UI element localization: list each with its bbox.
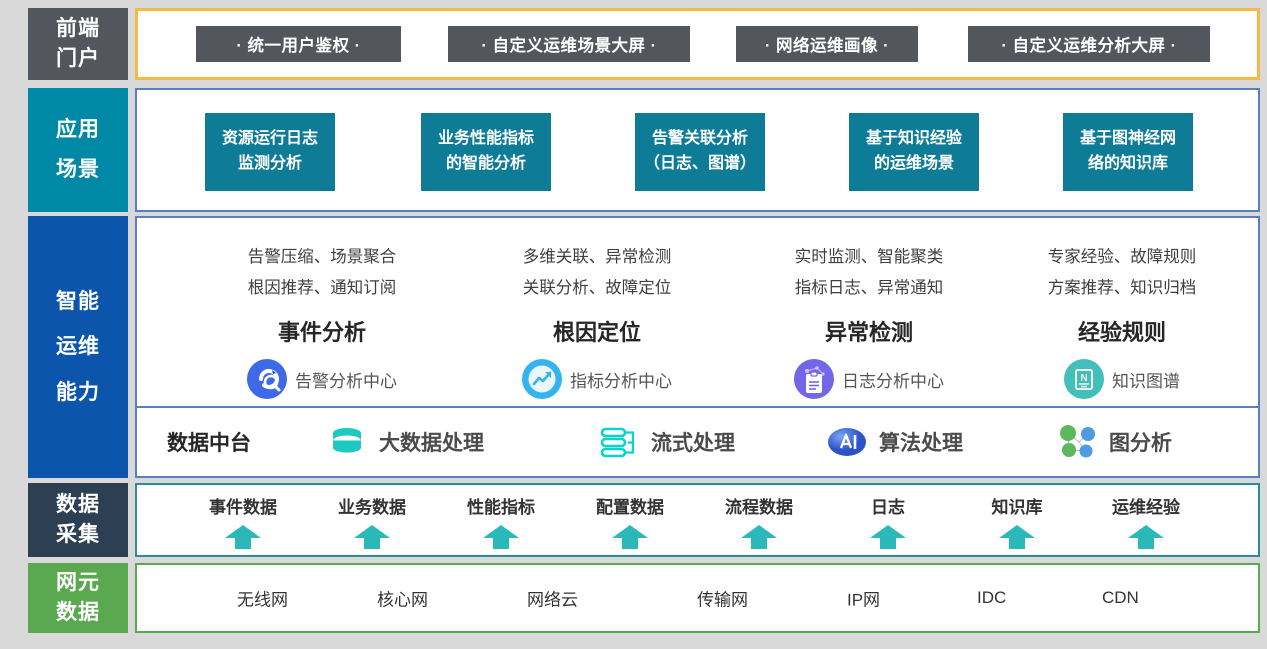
capability-tool[interactable]: 告警分析中心 [197,359,447,399]
row-label-line: 智能 [56,279,100,324]
network-element-item-1: 核心网 [377,586,428,611]
collection-item-label: 性能指标 [441,493,561,518]
up-arrow-icon [998,524,1036,550]
up-arrow-icon [1127,524,1165,550]
row-label-line: 应用 [56,110,100,150]
application-scenario-card-0[interactable]: 资源运行日志监测分析 [205,113,335,191]
capability-bullet: 根因推荐、通知订阅 [197,273,447,304]
row-label-line: 网元 [56,568,100,598]
capability-tool-label: 指标分析中心 [570,367,672,392]
data-collection-panel: 事件数据业务数据性能指标配置数据流程数据日志知识库运维经验 [135,483,1260,557]
frontend-portal-panel: · 统一用户鉴权 ·· 自定义运维场景大屏 ·· 网络运维画像 ·· 自定义运维… [135,8,1260,80]
data-platform-item-2[interactable]: 算法处理 [827,422,963,462]
collection-item-5: 日志 [828,493,948,550]
capability-title: 事件分析 [197,315,447,347]
row-label-aiops-capability: 智能 运维 能力 [28,216,128,478]
capability-tool[interactable]: 指标分析中心 [472,359,722,399]
capability-column-2: 实时监测、智能聚类指标日志、异常通知异常检测 日志分析中心 [744,242,994,399]
data-platform-item-label: 图分析 [1109,427,1172,457]
capability-tool[interactable]: N 知识图谱 [997,359,1247,399]
card-line: 的智能分析 [446,152,526,177]
data-platform-item-1[interactable]: 流式处理 [599,422,735,462]
up-arrow-icon [869,524,907,550]
capability-bullet: 多维关联、异常检测 [472,242,722,273]
log-analysis-icon [794,359,834,399]
network-element-data-panel: 无线网核心网网络云传输网IP网IDCCDN [135,563,1260,633]
row-label-line: 场景 [56,150,100,190]
capability-tool-label: 日志分析中心 [842,367,944,392]
row-label-line: 数据 [56,490,100,520]
network-element-item-6: CDN [1102,588,1139,608]
capability-bullets: 专家经验、故障规则方案推荐、知识归档 [997,242,1247,303]
row-label-line: 能力 [56,370,100,415]
row-frontend-portal: 前端 门户 · 统一用户鉴权 ·· 自定义运维场景大屏 ·· 网络运维画像 ··… [28,8,1260,80]
portal-chip-2[interactable]: · 网络运维画像 · [736,26,918,62]
capability-title: 根因定位 [472,315,722,347]
card-line: 基于图神经网 [1080,127,1176,152]
architecture-diagram: 前端 门户 · 统一用户鉴权 ·· 自定义运维场景大屏 ·· 网络运维画像 ··… [0,0,1267,649]
alarm-analysis-icon [247,359,287,399]
data-platform-item-label: 大数据处理 [379,427,484,457]
application-scenario-card-1[interactable]: 业务性能指标的智能分析 [421,113,551,191]
card-line: 告警关联分析 [652,127,748,152]
collection-item-0: 事件数据 [183,493,303,550]
ai-icon [827,422,867,462]
knowledge-graph-icon: N [1064,359,1104,399]
portal-chip-0[interactable]: · 统一用户鉴权 · [196,26,401,62]
capability-bullet: 指标日志、异常通知 [744,273,994,304]
capability-bullet: 专家经验、故障规则 [997,242,1247,273]
data-platform-item-0[interactable]: 大数据处理 [327,422,484,462]
stream-icon [599,422,639,462]
graph-icon [1057,422,1097,462]
row-label-line: 数据 [56,598,100,628]
data-platform-panel: 数据中台 大数据处理 流式处理 算法处理 图分析 [135,408,1260,478]
application-scenario-card-3[interactable]: 基于知识经验的运维场景 [849,113,979,191]
up-arrow-icon [740,524,778,550]
data-platform-item-label: 算法处理 [879,427,963,457]
capability-bullet: 关联分析、故障定位 [472,273,722,304]
row-network-element-data: 网元 数据 无线网核心网网络云传输网IP网IDCCDN [28,563,1260,633]
row-label-line: 前端 [56,14,100,44]
capability-tool-label: 告警分析中心 [295,367,397,392]
network-element-item-5: IDC [977,588,1006,608]
application-scenario-card-2[interactable]: 告警关联分析（日志、图谱） [635,113,765,191]
capability-column-0: 告警压缩、场景聚合根因推荐、通知订阅事件分析 告警分析中心 [197,242,447,399]
up-arrow-icon [482,524,520,550]
network-element-item-0: 无线网 [237,586,288,611]
log-analysis-icon [794,359,834,399]
network-element-item-4: IP网 [847,586,880,611]
capability-bullets: 告警压缩、场景聚合根因推荐、通知订阅 [197,242,447,303]
up-arrow-icon [353,524,391,550]
row-label-application-scenarios: 应用 场景 [28,88,128,212]
card-line: （日志、图谱） [644,152,756,177]
stream-icon [599,422,639,462]
capability-bullets: 多维关联、异常检测关联分析、故障定位 [472,242,722,303]
collection-item-label: 知识库 [957,493,1077,518]
data-platform-item-3[interactable]: 图分析 [1057,422,1172,462]
metric-analysis-icon [522,359,562,399]
collection-item-label: 日志 [828,493,948,518]
metric-analysis-icon [522,359,562,399]
capability-tool[interactable]: 日志分析中心 [744,359,994,399]
row-label-line: 运维 [56,324,100,369]
card-line: 资源运行日志 [222,127,318,152]
collection-item-label: 配置数据 [570,493,690,518]
card-line: 的运维场景 [874,152,954,177]
card-line: 络的知识库 [1088,152,1168,177]
ai-icon [827,422,867,462]
aiops-content: 告警压缩、场景聚合根因推荐、通知订阅事件分析 告警分析中心多维关联、异常检测关联… [135,216,1260,478]
capability-bullet: 实时监测、智能聚类 [744,242,994,273]
network-element-item-2: 网络云 [527,586,578,611]
application-scenario-card-4[interactable]: 基于图神经网络的知识库 [1063,113,1193,191]
alarm-analysis-icon [247,359,287,399]
capability-bullet: 方案推荐、知识归档 [997,273,1247,304]
capability-bullet: 告警压缩、场景聚合 [197,242,447,273]
svg-text:N: N [1080,373,1087,384]
up-arrow-icon [224,524,262,550]
card-line: 监测分析 [238,152,302,177]
capability-bullets: 实时监测、智能聚类指标日志、异常通知 [744,242,994,303]
portal-chip-3[interactable]: · 自定义运维分析大屏 · [968,26,1210,62]
row-label-data-collection: 数据 采集 [28,483,128,557]
aiops-capabilities-panel: 告警压缩、场景聚合根因推荐、通知订阅事件分析 告警分析中心多维关联、异常检测关联… [135,216,1260,408]
collection-item-label: 运维经验 [1086,493,1206,518]
capability-column-1: 多维关联、异常检测关联分析、故障定位根因定位 指标分析中心 [472,242,722,399]
row-label-frontend-portal: 前端 门户 [28,8,128,80]
row-label-line: 采集 [56,520,100,550]
up-arrow-icon [611,524,649,550]
collection-item-3: 配置数据 [570,493,690,550]
graph-icon [1057,422,1097,462]
row-data-collection: 数据 采集 事件数据业务数据性能指标配置数据流程数据日志知识库运维经验 [28,483,1260,557]
application-scenarios-panel: 资源运行日志监测分析业务性能指标的智能分析告警关联分析（日志、图谱）基于知识经验… [135,88,1260,212]
collection-item-2: 性能指标 [441,493,561,550]
collection-item-1: 业务数据 [312,493,432,550]
database-icon [327,422,367,462]
capability-tool-label: 知识图谱 [1112,367,1180,392]
network-element-item-3: 传输网 [697,586,748,611]
database-icon [327,422,367,462]
row-aiops-capability: 智能 运维 能力 告警压缩、场景聚合根因推荐、通知订阅事件分析 告警分析中心多维… [28,216,1260,478]
row-application-scenarios: 应用 场景 资源运行日志监测分析业务性能指标的智能分析告警关联分析（日志、图谱）… [28,88,1260,212]
card-line: 业务性能指标 [438,127,534,152]
capability-column-3: 专家经验、故障规则方案推荐、知识归档经验规则 N 知识图谱 [997,242,1247,399]
row-label-line: 门户 [56,44,100,74]
collection-item-7: 运维经验 [1086,493,1206,550]
knowledge-graph-icon: N [1064,359,1104,399]
card-line: 基于知识经验 [866,127,962,152]
portal-chip-1[interactable]: · 自定义运维场景大屏 · [448,26,690,62]
data-platform-title: 数据中台 [167,427,251,457]
collection-item-label: 业务数据 [312,493,432,518]
capability-title: 异常检测 [744,315,994,347]
capability-title: 经验规则 [997,315,1247,347]
collection-item-4: 流程数据 [699,493,819,550]
collection-item-6: 知识库 [957,493,1077,550]
data-platform-item-label: 流式处理 [651,427,735,457]
collection-item-label: 流程数据 [699,493,819,518]
collection-item-label: 事件数据 [183,493,303,518]
row-label-network-element-data: 网元 数据 [28,563,128,633]
